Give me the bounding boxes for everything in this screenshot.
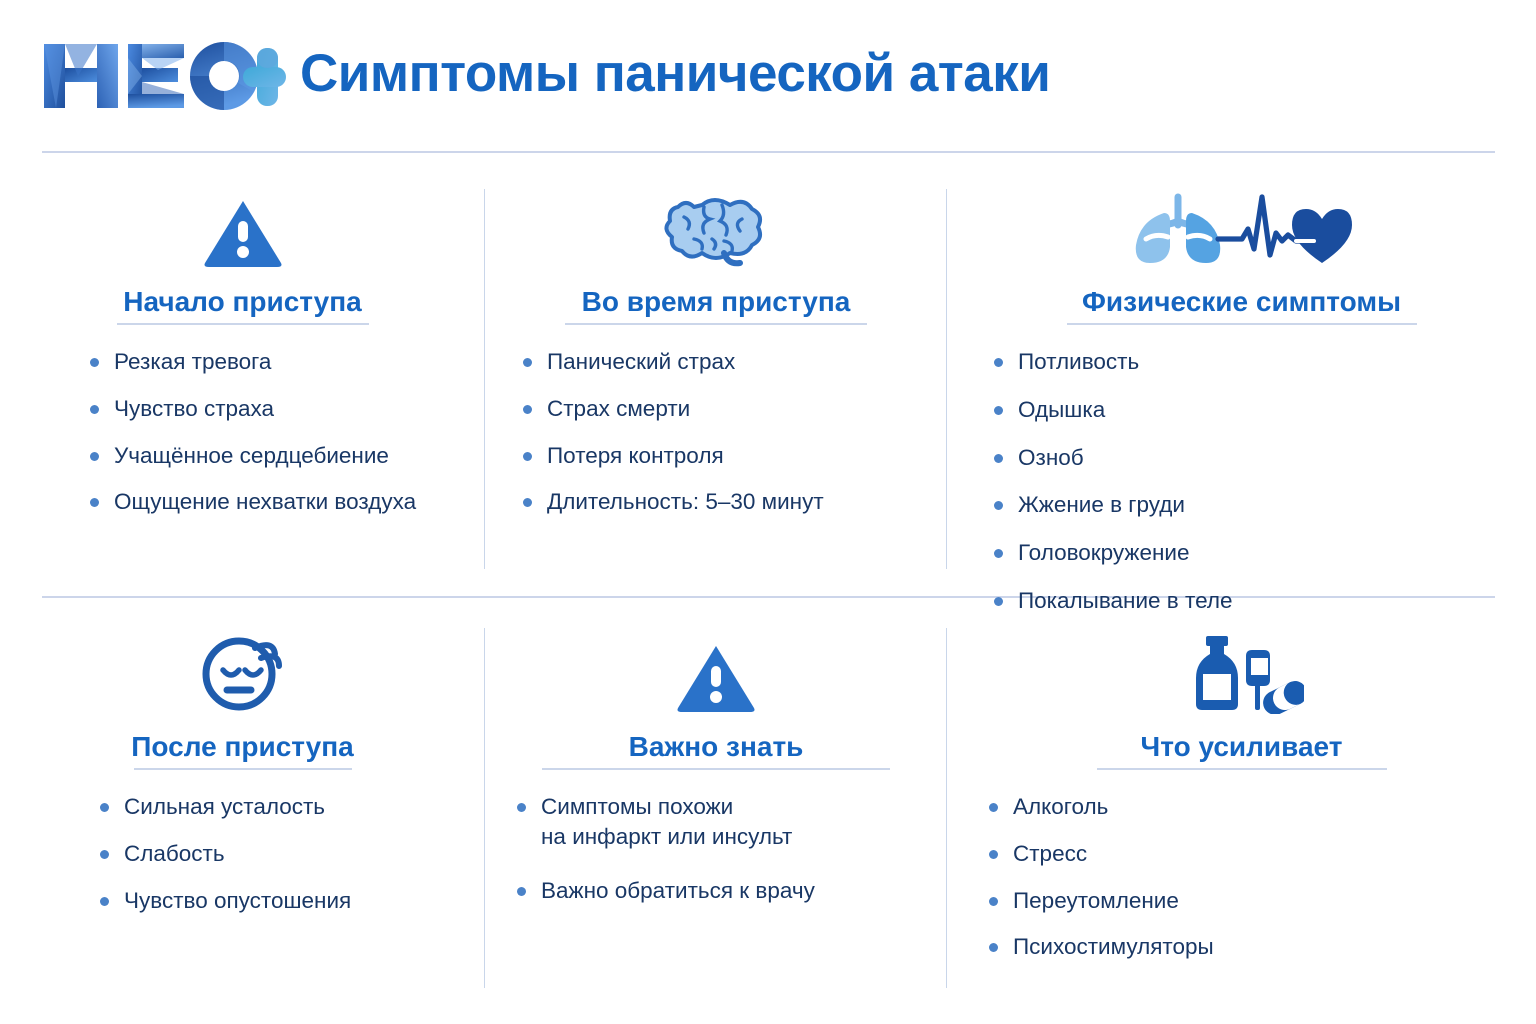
trigger-list: Алкоголь Стресс Переутомление Психостиму…: [947, 792, 1536, 962]
symptom-list: Потливость Одышка Озноб Жжение в груди Г…: [947, 347, 1536, 615]
card-icon-wrap: [0, 153, 485, 269]
list-item: Потливость: [992, 347, 1536, 377]
list-item: Чувство страха: [88, 394, 485, 424]
list-item: Жжение в груди: [992, 490, 1536, 520]
list-item: Озноб: [992, 443, 1536, 473]
title-underline: [542, 768, 890, 770]
neo-plus-logo: [38, 30, 286, 122]
cards-grid: Начало приступа Резкая тревога Чувство с…: [0, 153, 1536, 1024]
symptom-list: Сильная усталость Слабость Чувство опуст…: [0, 792, 485, 915]
card-after: После приступа Сильная усталость Слабост…: [0, 598, 485, 1024]
warning-triangle-icon: [676, 642, 756, 714]
card-during: Во время приступа Панический страх Страх…: [485, 153, 947, 597]
list-item: Важно обратиться к врачу: [515, 876, 947, 906]
lungs-shape: [1135, 197, 1219, 263]
card-important: Важно знать Симптомы похожи на инфаркт и…: [485, 598, 947, 1024]
list-item: Слабость: [98, 839, 485, 869]
brain-icon: [664, 195, 768, 269]
lungs-ecg-heart-icon: [1126, 191, 1358, 269]
card-icon-wrap: [0, 598, 485, 714]
list-item: Психостимуляторы: [987, 932, 1536, 962]
cards-row-1: Начало приступа Резкая тревога Чувство с…: [0, 153, 1536, 597]
page-title: Симптомы панической атаки: [300, 47, 1050, 106]
list-item: Головокружение: [992, 538, 1536, 568]
list-item: Сильная усталость: [98, 792, 485, 822]
title-underline: [565, 323, 867, 325]
warning-triangle-icon: [203, 197, 283, 269]
page-header: Симптомы панической атаки: [0, 0, 1536, 152]
list-item: Переутомление: [987, 886, 1536, 916]
card-icon-wrap: [947, 153, 1536, 269]
list-item: Резкая тревога: [88, 347, 485, 377]
list-item: Потеря контроля: [521, 441, 947, 471]
card-icon-wrap: [485, 153, 947, 269]
card-title: Во время приступа: [485, 287, 947, 316]
card-title: Начало приступа: [0, 287, 485, 316]
heart-shape: [1292, 209, 1352, 263]
list-item: Ощущение нехватки воздуха: [88, 487, 485, 517]
card-title: Важно знать: [485, 732, 947, 761]
title-underline: [1067, 323, 1417, 325]
symptom-list: Резкая тревога Чувство страха Учащённое …: [0, 347, 485, 517]
title-underline: [1097, 768, 1387, 770]
card-icon-wrap: [485, 598, 947, 714]
symptom-list: Панический страх Страх смерти Потеря кон…: [485, 347, 947, 517]
bottle-syringe-pill-icon: [1180, 634, 1304, 714]
logo-letter-e: [128, 44, 184, 108]
list-item: Алкоголь: [987, 792, 1536, 822]
card-physical: Физические симптомы Потливость Одышка Оз…: [947, 153, 1536, 597]
list-item: Чувство опустошения: [98, 886, 485, 916]
title-underline: [134, 768, 352, 770]
card-onset: Начало приступа Резкая тревога Чувство с…: [0, 153, 485, 597]
card-title: После приступа: [0, 732, 485, 761]
warning-list: Симптомы похожи на инфаркт или инсульт В…: [485, 792, 947, 905]
list-item: Симптомы похожи на инфаркт или инсульт: [515, 792, 947, 851]
cards-row-2: После приступа Сильная усталость Слабост…: [0, 598, 1536, 1024]
tired-face-icon: [195, 630, 291, 714]
vial-window: [1251, 658, 1268, 675]
card-icon-wrap: [947, 598, 1536, 714]
list-item: Длительность: 5–30 минут: [521, 487, 947, 517]
list-item: Панический страх: [521, 347, 947, 377]
logo-letter-n: [44, 44, 118, 108]
card-title: Физические симптомы: [947, 287, 1536, 316]
card-title: Что усиливает: [947, 732, 1536, 761]
list-item: Учащённое сердцебиение: [88, 441, 485, 471]
bottle-label: [1203, 674, 1231, 700]
list-item: Одышка: [992, 395, 1536, 425]
list-item: Стресс: [987, 839, 1536, 869]
title-underline: [117, 323, 369, 325]
card-triggers: Что усиливает Алкоголь Стресс Переутомле…: [947, 598, 1536, 1024]
list-item: Страх смерти: [521, 394, 947, 424]
